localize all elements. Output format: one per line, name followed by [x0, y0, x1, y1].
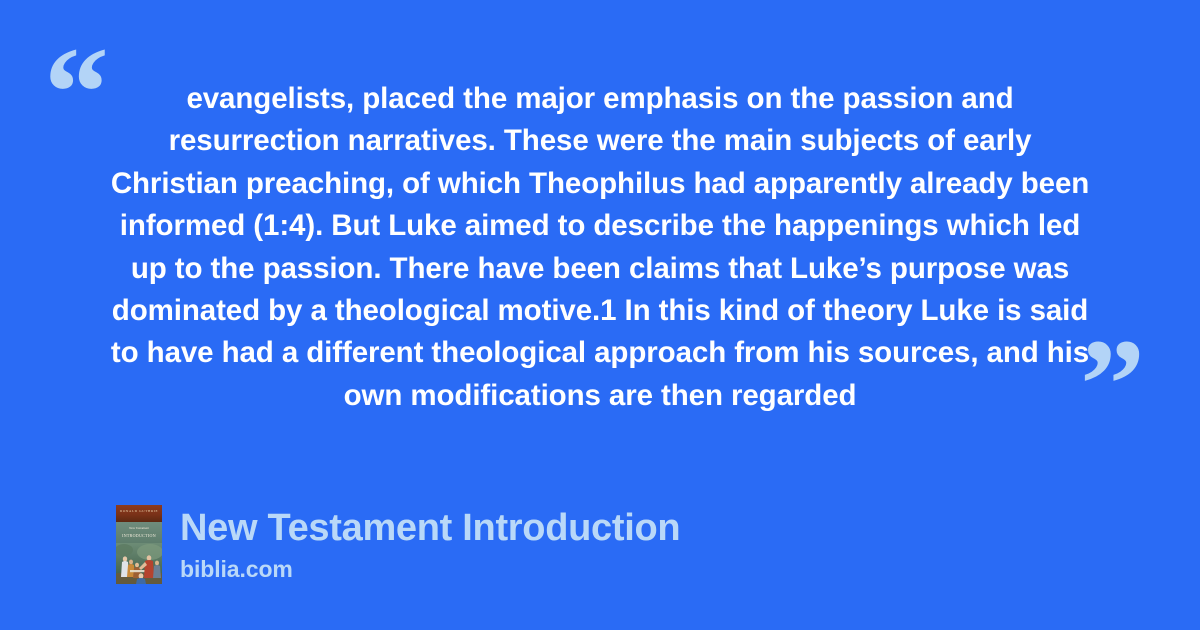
opening-quote-icon: “ — [44, 28, 109, 158]
book-cover-title-text: INTRODUCTION — [116, 534, 162, 538]
book-cover-author-text: DONALD GUTHRIE — [116, 510, 162, 513]
book-cover-painting — [116, 543, 162, 584]
book-cover-top-band — [116, 505, 162, 522]
book-title: New Testament Introduction — [180, 506, 680, 550]
quote-card: “ evangelists, placed the major emphasis… — [0, 0, 1200, 630]
footer-text-block: New Testament Introduction biblia.com — [180, 505, 680, 582]
footer-attribution: DONALD GUTHRIE New Testament INTRODUCTIO… — [116, 505, 680, 584]
quote-region: “ evangelists, placed the major emphasis… — [0, 0, 1200, 430]
book-cover-series-text: New Testament — [116, 527, 162, 530]
quote-text: evangelists, placed the major emphasis o… — [110, 78, 1090, 417]
closing-quote-icon: ” — [1080, 320, 1145, 450]
site-name: biblia.com — [180, 556, 680, 582]
book-cover-thumbnail: DONALD GUTHRIE New Testament INTRODUCTIO… — [116, 505, 162, 584]
